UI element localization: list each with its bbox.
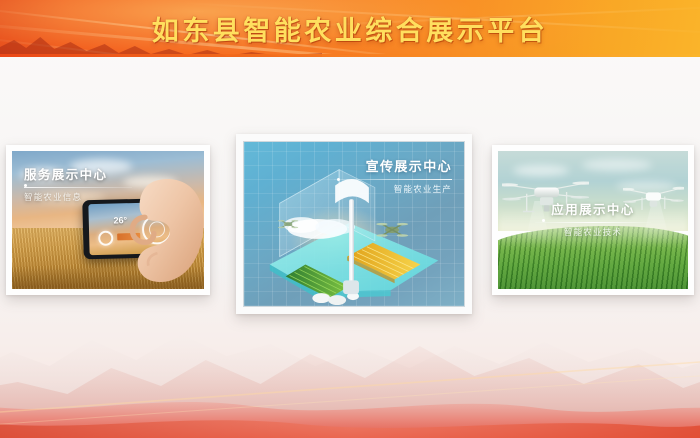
background-light-streak xyxy=(0,318,700,438)
caption-application: 应用展示中心 智能农业技术 xyxy=(498,199,688,238)
header-banner: 如东县智能农业综合展示平台 xyxy=(0,0,700,57)
caption-subtitle: 智能农业生产 xyxy=(334,183,452,195)
caption-rule xyxy=(334,179,452,180)
human-hand xyxy=(127,176,204,284)
caption-dot xyxy=(542,219,545,222)
caption-title: 宣传展示中心 xyxy=(334,156,452,175)
hud-temperature: 26° xyxy=(113,216,127,226)
caption-rule xyxy=(535,222,651,223)
panel-publicity-image: 宣传展示中心 智能农业生产 xyxy=(243,141,465,307)
caption-rule xyxy=(24,187,132,188)
caption-dot xyxy=(337,178,340,181)
caption-subtitle: 智能农业技术 xyxy=(498,226,688,238)
panel-publicity-display-center[interactable]: 宣传展示中心 智能农业生产 xyxy=(236,134,472,314)
cloud xyxy=(513,165,569,176)
panel-service-image: 26° xyxy=(12,151,204,289)
caption-title: 服务展示中心 xyxy=(24,164,132,183)
hud-small-ring xyxy=(98,231,113,246)
panel-application-display-center[interactable]: 应用展示中心 智能农业技术 xyxy=(492,145,694,295)
app-stage: 如东县智能农业综合展示平台 26° xyxy=(0,0,700,438)
page-title: 如东县智能农业综合展示平台 xyxy=(0,0,700,57)
caption-subtitle: 智能农业信息 xyxy=(24,191,132,203)
caption-service: 服务展示中心 智能农业信息 xyxy=(24,164,132,203)
caption-dot xyxy=(24,184,27,187)
panel-application-image: 应用展示中心 智能农业技术 xyxy=(498,151,688,289)
caption-title: 应用展示中心 xyxy=(498,199,688,218)
panel-service-display-center[interactable]: 26° xyxy=(6,145,210,295)
caption-publicity: 宣传展示中心 智能农业生产 xyxy=(334,156,452,195)
